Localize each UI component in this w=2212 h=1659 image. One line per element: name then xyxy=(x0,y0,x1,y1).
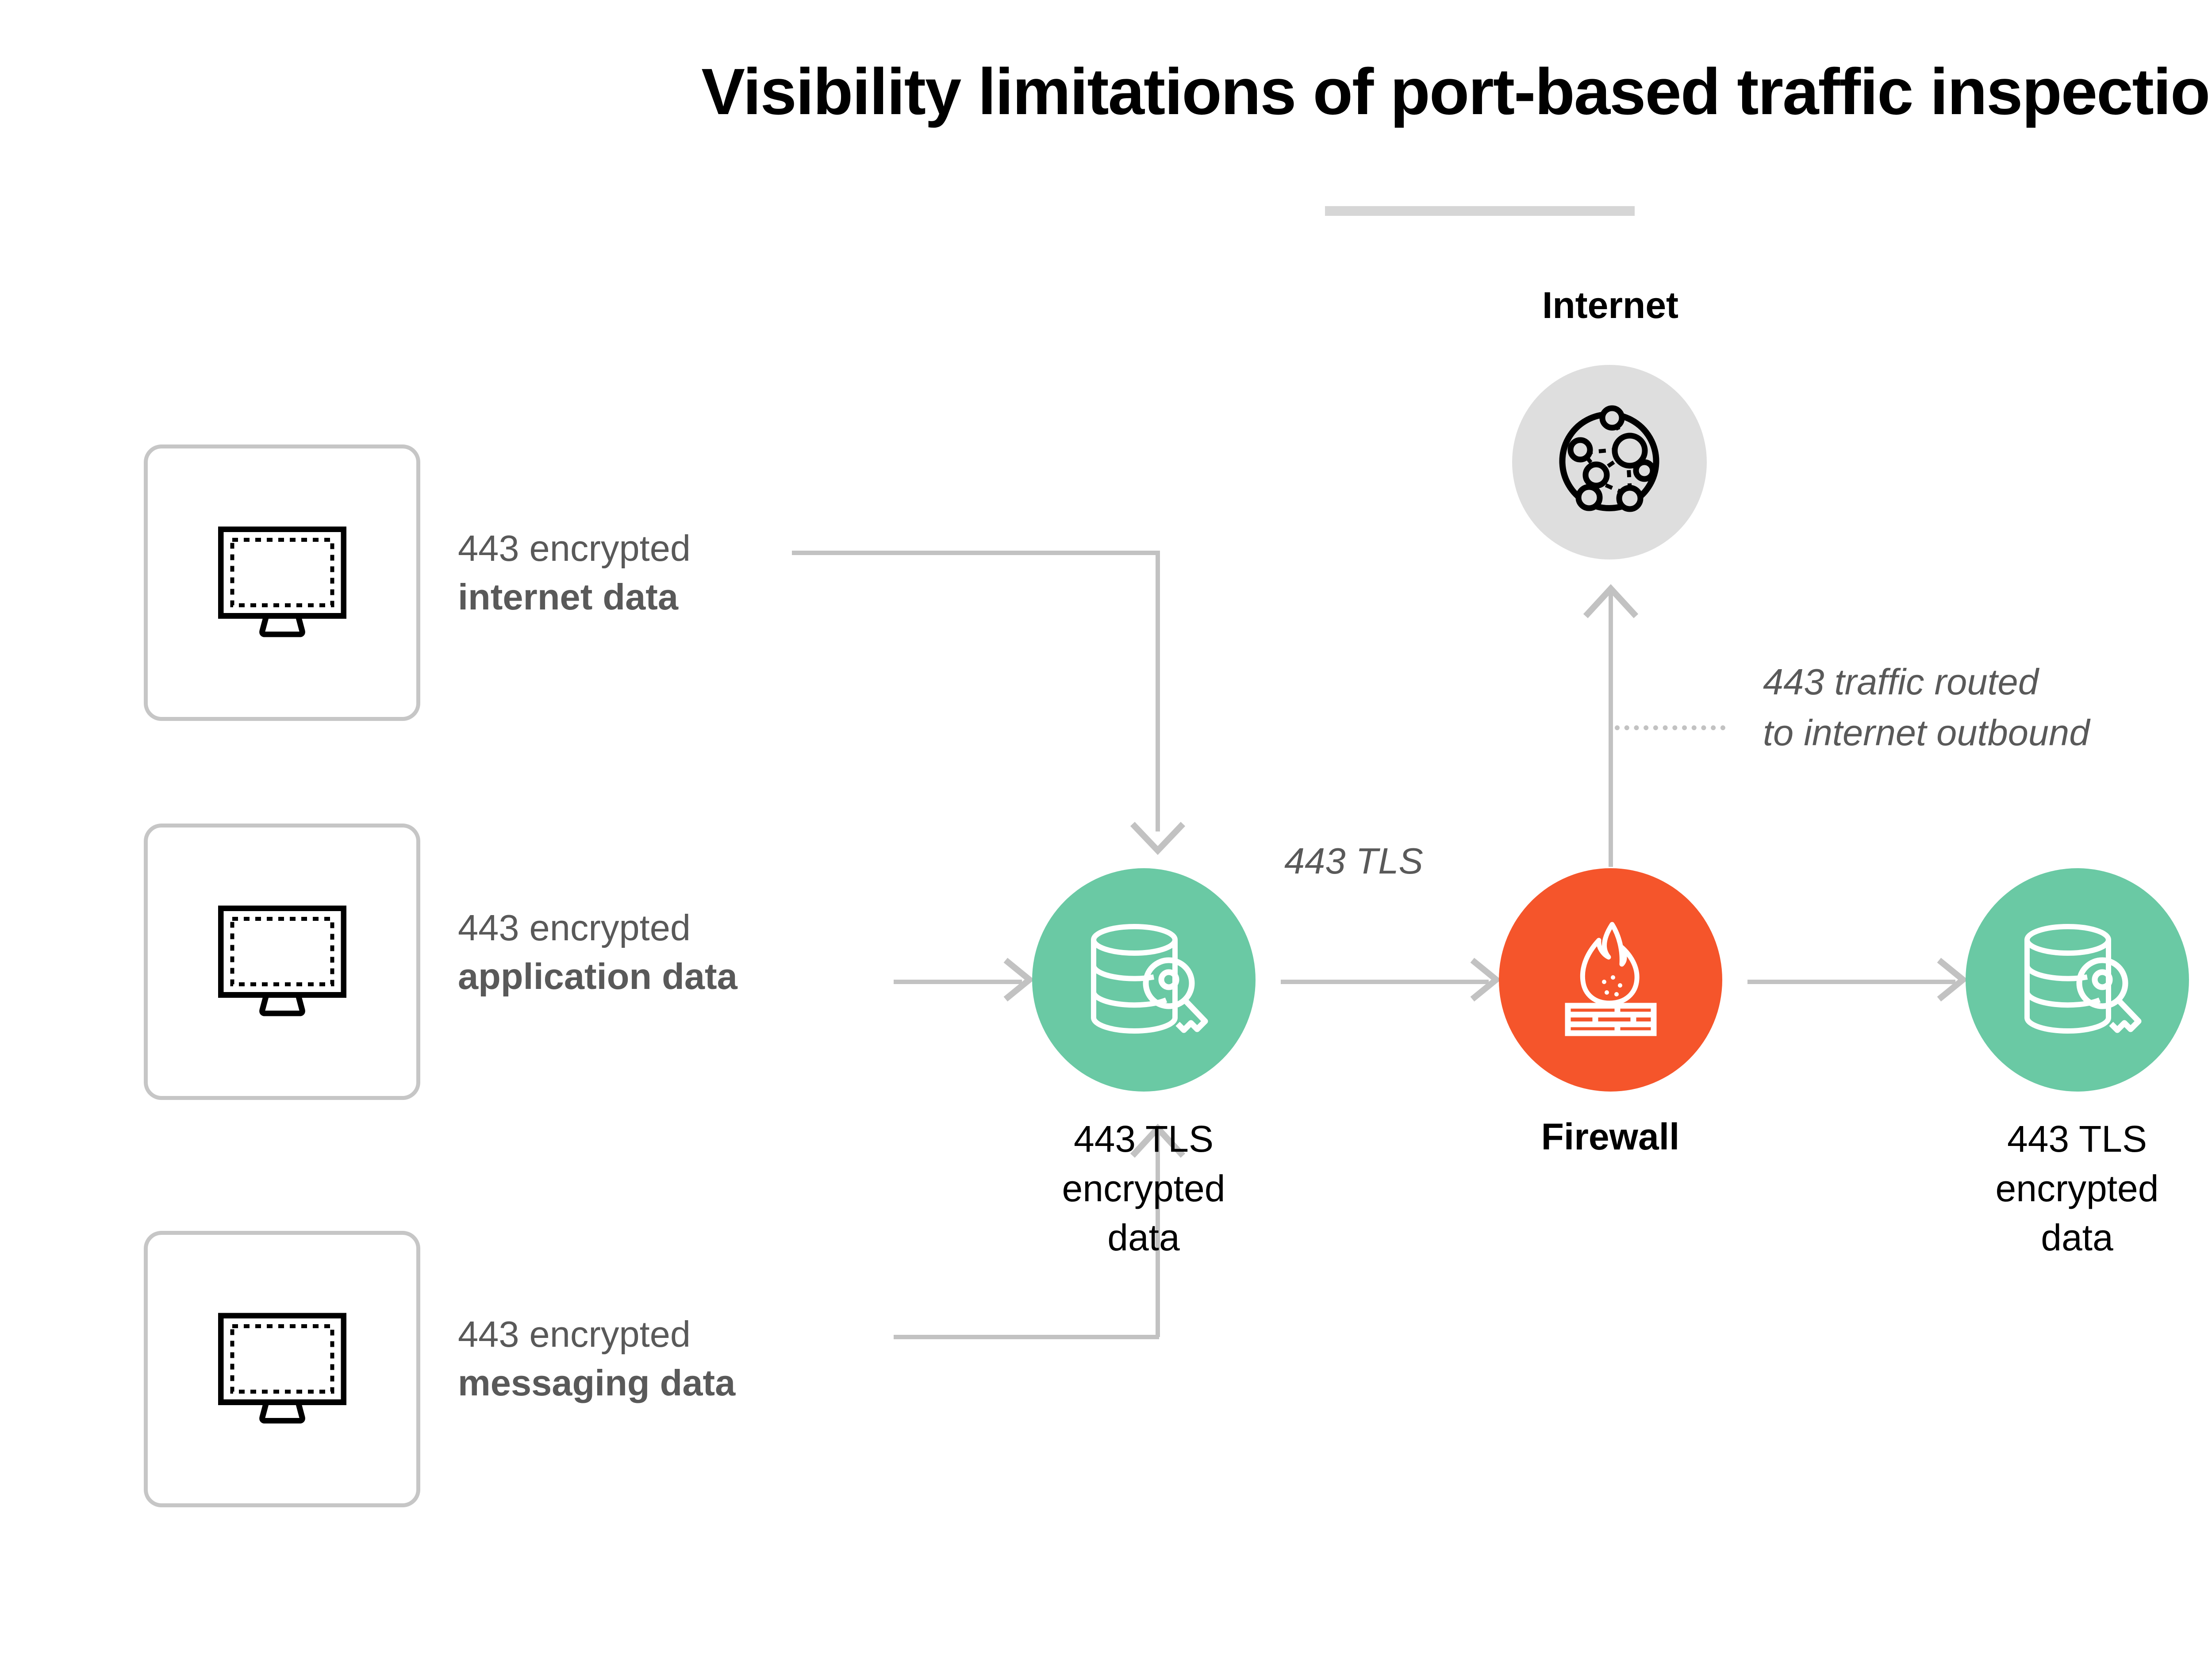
node-label-tls-right: 443 TLS encrypted data xyxy=(1922,1115,2212,1263)
endpoint-box-application[interactable] xyxy=(144,824,420,1100)
arrowhead-up-internet xyxy=(1582,582,1640,621)
monitor-icon xyxy=(218,905,346,1018)
node-label-firewall: Firewall xyxy=(1433,1115,1787,1159)
flow-label-messaging-data: 443 encrypted messaging data xyxy=(458,1310,735,1408)
node-label-tls-left: 443 TLS encrypted data xyxy=(989,1115,1298,1263)
flow-label-messaging-line1: 443 encrypted xyxy=(458,1310,735,1359)
node-internet[interactable] xyxy=(1512,365,1707,559)
flow-label-application-line2: application data xyxy=(458,952,737,1001)
node-label-tls-right-line3: data xyxy=(1922,1213,2212,1263)
flow-label-messaging-line2: messaging data xyxy=(458,1359,735,1407)
firewall-flame-brick-icon xyxy=(1547,915,1675,1045)
connector-internet-vertical xyxy=(1156,551,1160,831)
flow-label-application-line1: 443 encrypted xyxy=(458,904,737,952)
node-firewall[interactable] xyxy=(1499,868,1722,1092)
node-tls-encrypted-right[interactable] xyxy=(1966,868,2189,1092)
endpoint-box-messaging[interactable] xyxy=(144,1231,420,1507)
flow-label-internet-data: 443 encrypted internet data xyxy=(458,524,691,622)
title-divider xyxy=(1325,206,1635,216)
node-label-tls-right-line1: 443 TLS xyxy=(1922,1115,2212,1164)
connector-firewall-internet-vertical xyxy=(1609,593,1613,867)
node-tls-encrypted-left[interactable] xyxy=(1032,868,1256,1092)
arrowhead-down-internet xyxy=(1129,820,1187,860)
flow-label-application-data: 443 encrypted application data xyxy=(458,904,737,1001)
page-title: Visibility limitations of port-based tra… xyxy=(0,57,2212,126)
connector-label-443-tls: 443 TLS xyxy=(1284,836,1423,887)
monitor-icon xyxy=(218,1313,346,1425)
flow-label-internet-line1: 443 encrypted xyxy=(458,524,691,573)
database-key-icon xyxy=(2011,912,2144,1047)
connector-tls-firewall-line xyxy=(1281,980,1489,984)
node-label-tls-left-line2: encrypted xyxy=(989,1164,1298,1214)
diagram-canvas: Visibility limitations of port-based tra… xyxy=(0,0,2212,1659)
connector-firewall-tlsright-line xyxy=(1747,980,1955,984)
node-label-tls-left-line1: 443 TLS xyxy=(989,1115,1298,1164)
connector-outbound-dotted xyxy=(1615,725,1725,730)
endpoint-box-internet[interactable] xyxy=(144,444,420,721)
flow-label-internet-line2: internet data xyxy=(458,573,691,621)
node-label-tls-right-line2: encrypted xyxy=(1922,1164,2212,1214)
node-label-tls-left-line3: data xyxy=(989,1213,1298,1263)
network-globe-icon xyxy=(1548,399,1671,525)
connector-messaging-horizontal xyxy=(894,1335,1159,1339)
connector-label-outbound-line2: to internet outbound xyxy=(1763,708,2089,759)
monitor-icon xyxy=(218,526,346,639)
connector-label-outbound: 443 traffic routed to internet outbound xyxy=(1763,657,2089,758)
node-label-internet: Internet xyxy=(1433,283,1787,328)
connector-label-outbound-line1: 443 traffic routed xyxy=(1763,657,2089,708)
database-key-icon xyxy=(1078,912,1210,1047)
connector-internet-horizontal xyxy=(792,551,1159,555)
